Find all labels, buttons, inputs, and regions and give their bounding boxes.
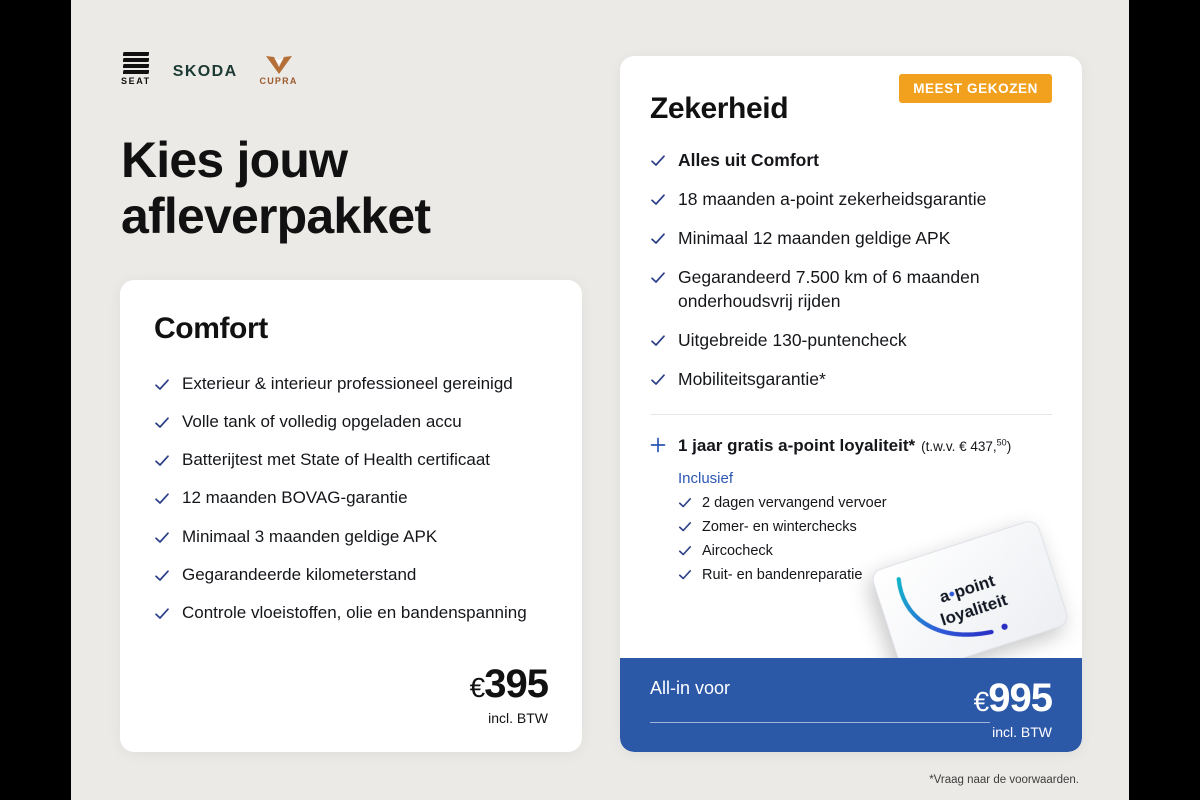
zekerheid-price: €995 <box>974 678 1052 718</box>
check-icon <box>678 520 692 534</box>
list-item: Gegarandeerde kilometerstand <box>154 563 548 587</box>
package-card-comfort[interactable]: Comfort Exterieur & interieur profession… <box>120 280 582 752</box>
bonus-value: (t.w.v. € 437,50) <box>921 439 1011 454</box>
list-item: Minimaal 12 maanden geldige APK <box>650 226 1052 251</box>
check-icon <box>650 270 666 286</box>
page-content: SEAT SKODA CUPRA Kies jouw afleverpakket… <box>71 0 1129 800</box>
check-icon <box>154 453 170 469</box>
list-item-label: Batterijtest met State of Health certifi… <box>182 448 490 472</box>
status-badge: MEEST GEKOZEN <box>899 74 1052 103</box>
screenshot-root: SEAT SKODA CUPRA Kies jouw afleverpakket… <box>0 0 1200 800</box>
check-icon <box>154 568 170 584</box>
list-item-label: Minimaal 3 maanden geldige APK <box>182 525 437 549</box>
package-card-zekerheid[interactable]: MEEST GEKOZEN Zekerheid Alles uit Comfor… <box>620 56 1082 752</box>
list-item-label: 2 dagen vervangend vervoer <box>702 495 887 511</box>
check-icon <box>650 333 666 349</box>
list-item: Volle tank of volledig opgeladen accu <box>154 410 548 434</box>
currency-symbol: € <box>470 672 485 703</box>
footnote: *Vraag naar de voorwaarden. <box>929 774 1079 786</box>
price-amount: 395 <box>484 662 548 706</box>
list-item-label: 18 maanden a-point zekerheidsgarantie <box>678 187 986 212</box>
list-item: Controle vloeistoffen, olie en bandenspa… <box>154 601 548 625</box>
cupra-emblem-icon <box>265 55 293 75</box>
check-icon <box>154 377 170 393</box>
zekerheid-price-footer: All-in voor €995 incl. BTW <box>620 658 1082 752</box>
page-title: Kies jouw afleverpakket <box>121 132 430 244</box>
check-icon <box>650 192 666 208</box>
list-item-label: Gegarandeerd 7.500 km of 6 maanden onder… <box>678 265 1052 315</box>
list-item: 2 dagen vervangend vervoer <box>678 495 1052 511</box>
comfort-feature-list: Exterieur & interieur professioneel gere… <box>154 372 548 625</box>
check-icon <box>154 491 170 507</box>
list-item: Alles uit Comfort <box>650 148 1052 173</box>
check-icon <box>154 415 170 431</box>
cupra-logo: CUPRA <box>260 55 298 86</box>
comfort-price-block: €395 incl. BTW <box>470 664 548 726</box>
comfort-card-title: Comfort <box>154 312 548 346</box>
check-icon <box>154 530 170 546</box>
check-icon <box>650 231 666 247</box>
bonus-row: 1 jaar gratis a-point loyaliteit*(t.w.v.… <box>650 435 1052 456</box>
cupra-wordmark: CUPRA <box>260 76 298 86</box>
list-item-label: 12 maanden BOVAG-garantie <box>182 486 408 510</box>
list-item: Mobiliteitsgarantie* <box>650 367 1052 392</box>
check-icon <box>678 496 692 510</box>
list-item-label: Controle vloeistoffen, olie en bandenspa… <box>182 601 527 625</box>
zekerheid-price-note: incl. BTW <box>974 724 1052 740</box>
seat-emblem-icon <box>123 52 149 74</box>
check-icon <box>650 372 666 388</box>
plus-icon <box>650 437 666 453</box>
list-item: Minimaal 3 maanden geldige APK <box>154 525 548 549</box>
seat-logo: SEAT <box>121 52 151 86</box>
list-item: Gegarandeerd 7.500 km of 6 maanden onder… <box>650 265 1052 315</box>
comfort-price-note: incl. BTW <box>470 710 548 726</box>
list-item-label: Zomer- en winterchecks <box>702 519 857 535</box>
list-item: Exterieur & interieur professioneel gere… <box>154 372 548 396</box>
divider <box>650 414 1052 415</box>
list-item: Batterijtest met State of Health certifi… <box>154 448 548 472</box>
inclusief-label: Inclusief <box>678 470 1052 487</box>
list-item-label: Volle tank of volledig opgeladen accu <box>182 410 462 434</box>
bonus-value-suffix: ) <box>1007 439 1012 454</box>
list-item: 18 maanden a-point zekerheidsgarantie <box>650 187 1052 212</box>
list-item: 12 maanden BOVAG-garantie <box>154 486 548 510</box>
check-icon <box>678 568 692 582</box>
allin-label: All-in voor <box>650 678 730 699</box>
list-item-label: Aircocheck <box>702 543 773 559</box>
bonus-title: 1 jaar gratis a-point loyaliteit* <box>678 436 915 455</box>
bonus-value-cents: 50 <box>997 437 1007 447</box>
skoda-logo: SKODA <box>173 63 238 86</box>
zekerheid-feature-list: Alles uit Comfort 18 maanden a-point zek… <box>650 148 1052 392</box>
list-item-label: Mobiliteitsgarantie* <box>678 367 826 392</box>
list-item-label: Uitgebreide 130-puntencheck <box>678 328 907 353</box>
price-amount: 995 <box>988 676 1052 720</box>
zekerheid-price-block: €995 incl. BTW <box>974 678 1052 740</box>
list-item-label: Exterieur & interieur professioneel gere… <box>182 372 513 396</box>
comfort-price: €395 <box>470 664 548 704</box>
list-item-label: Alles uit Comfort <box>678 148 819 173</box>
currency-symbol: € <box>974 686 989 717</box>
list-item-label: Ruit- en bandenreparatie <box>702 567 862 583</box>
bonus-value-prefix: (t.w.v. € 437, <box>921 439 997 454</box>
check-icon <box>678 544 692 558</box>
list-item-label: Gegarandeerde kilometerstand <box>182 563 416 587</box>
check-icon <box>650 153 666 169</box>
divider <box>650 722 990 723</box>
list-item-label: Minimaal 12 maanden geldige APK <box>678 226 950 251</box>
check-icon <box>154 606 170 622</box>
seat-wordmark: SEAT <box>121 76 151 86</box>
brand-logos: SEAT SKODA CUPRA <box>121 52 298 86</box>
list-item: Uitgebreide 130-puntencheck <box>650 328 1052 353</box>
